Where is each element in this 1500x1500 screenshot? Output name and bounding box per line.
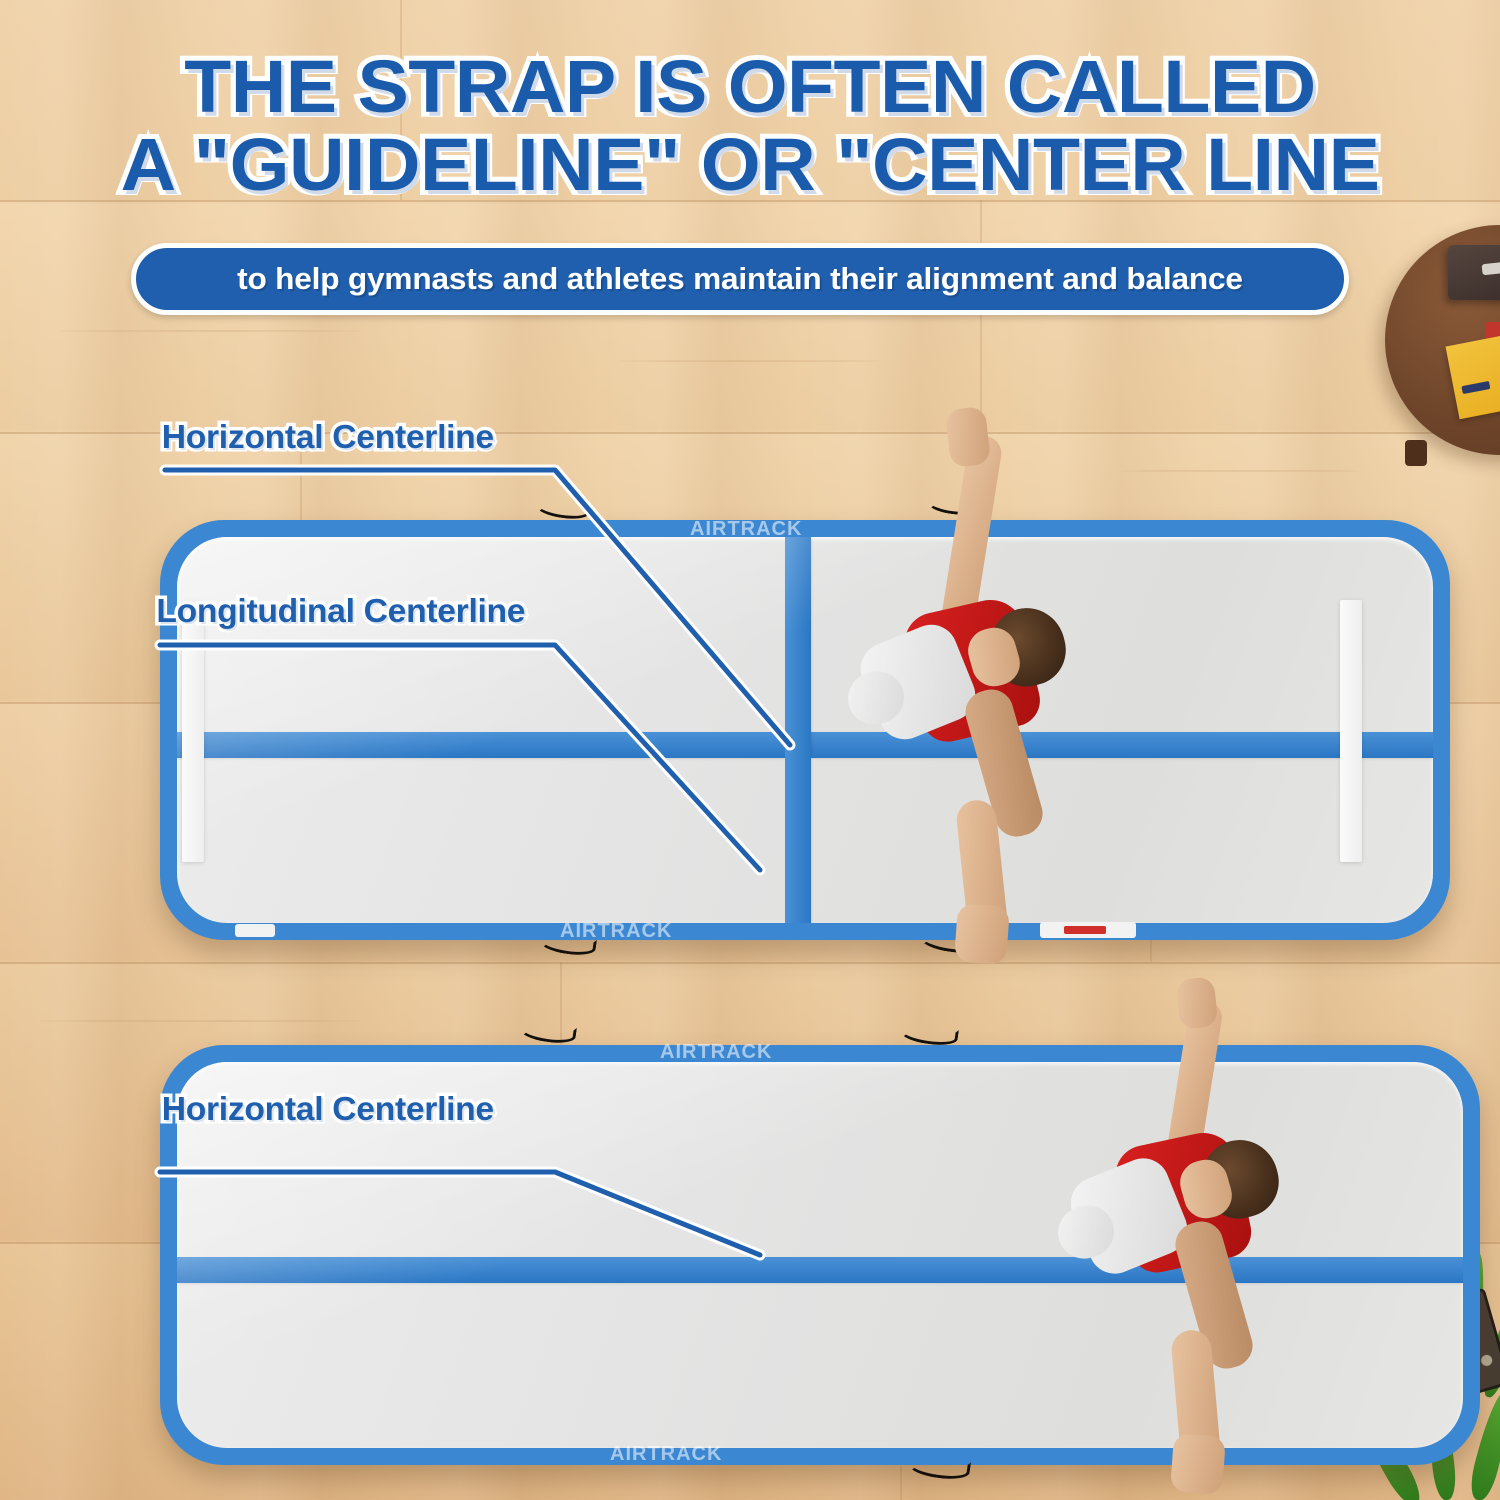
subtitle-text: to help gymnasts and athletes maintain t… xyxy=(237,261,1243,297)
page-headline: THE STRAP IS OFTEN CALLEDA "GUIDELINE" O… xyxy=(0,48,1500,204)
callout-label-top-longitudinal: Longitudinal Centerline xyxy=(156,592,525,630)
leader-line-top-longitudinal xyxy=(160,645,760,870)
callout-label-bottom-horizontal: Horizontal Centerline xyxy=(162,1090,494,1128)
headline-line-2: A "GUIDELINE" OR "CENTER LINE xyxy=(121,123,1380,206)
leader-outline-bottom-horizontal xyxy=(160,1172,760,1255)
headline-line-1: THE STRAP IS OFTEN CALLED xyxy=(184,45,1315,128)
leader-outline-top-longitudinal xyxy=(160,645,760,870)
callout-leader-lines xyxy=(0,0,1500,1500)
infographic-canvas: AIRTRACK AIRTRACK AIRTRACK AIRTRACK xyxy=(0,0,1500,1500)
subtitle-pill: to help gymnasts and athletes maintain t… xyxy=(131,243,1349,315)
callout-label-top-horizontal: Horizontal Centerline xyxy=(162,418,494,456)
